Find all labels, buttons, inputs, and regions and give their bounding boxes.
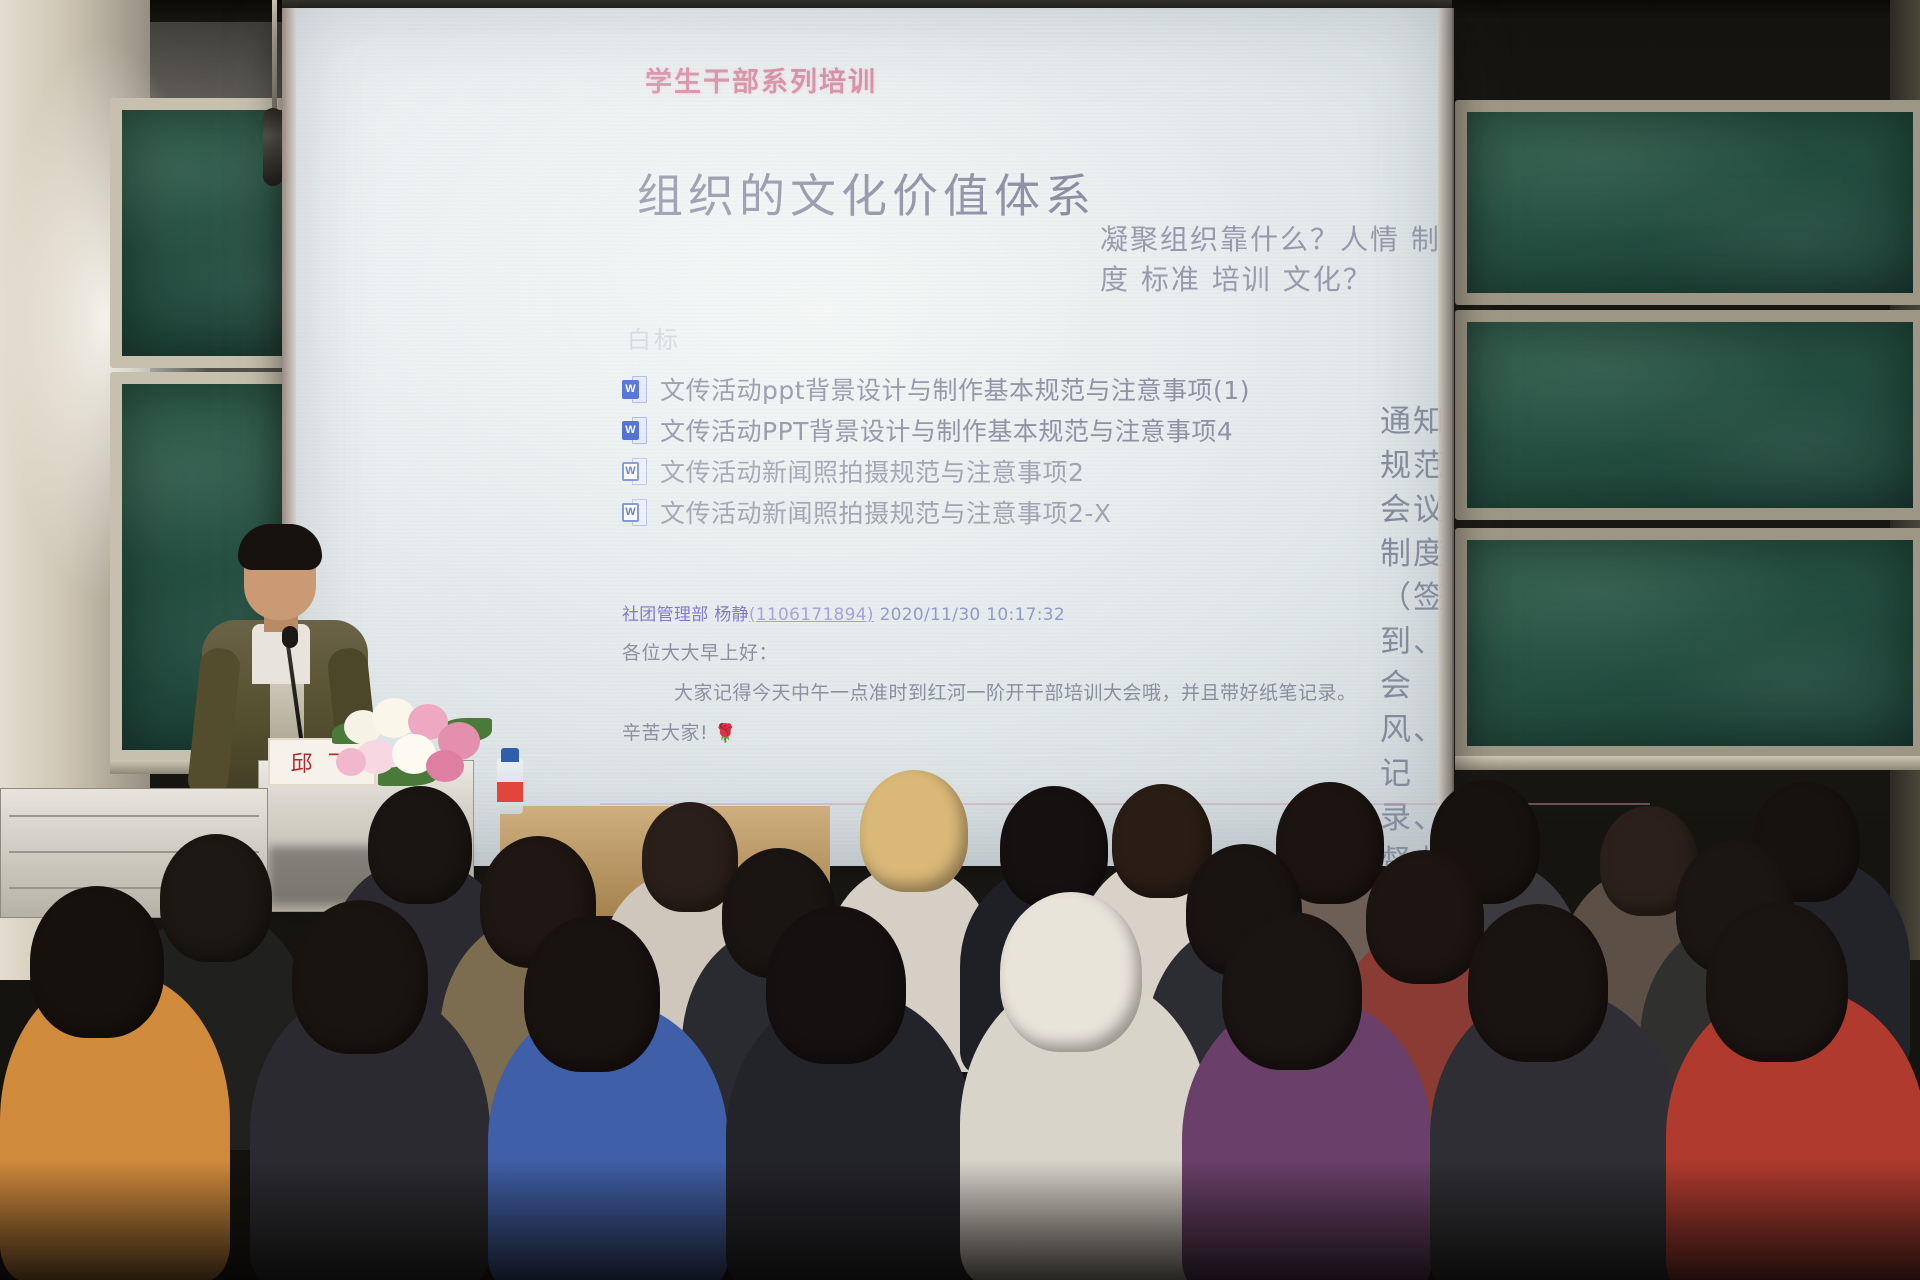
podium-microphone-head	[282, 626, 298, 648]
audience-member-head	[30, 886, 164, 1038]
file-name: 文传活动PPT背景设计与制作基本规范与注意事项4	[660, 412, 1233, 448]
audience-member-head	[860, 770, 968, 892]
chalk-residue	[1467, 540, 1913, 746]
word-doc-opened-icon: W	[622, 499, 647, 526]
chat-line: 大家记得今天中午一点准时到红河一阶开干部培训大会哦，并且带好纸笔记录。	[674, 678, 1357, 705]
file-attachment-list: W 文传活动ppt背景设计与制作基本规范与注意事项(1) W 文传活动PPT背景…	[622, 370, 1250, 534]
slide-title: 组织的文化价值体系	[637, 160, 1096, 226]
audience-member-head	[1366, 850, 1484, 984]
audience-member-head	[292, 900, 428, 1054]
list-item[interactable]: W 文传活动新闻照拍摄规范与注意事项2-X	[622, 493, 1250, 531]
list-item[interactable]: W 文传活动新闻照拍摄规范与注意事项2	[622, 452, 1250, 490]
word-doc-icon: W	[622, 417, 647, 444]
microphone-capsule	[263, 108, 283, 186]
chat-line: 各位大大早上好：	[622, 638, 1357, 665]
chat-message-block: 社团管理部 杨静(1106171894) 2020/11/30 10:17:32…	[622, 600, 1357, 745]
word-doc-icon: W	[622, 376, 647, 403]
list-item[interactable]: W 文传活动PPT背景设计与制作基本规范与注意事项4	[622, 411, 1250, 449]
audience	[0, 740, 1920, 1280]
audience-member-head	[1000, 892, 1142, 1052]
microphone-rod	[272, 0, 277, 118]
blackboard-right-lower	[1455, 528, 1920, 758]
blackboard-right-upper	[1455, 100, 1920, 305]
lecture-hall-photo: 学生干部系列培训 组织的文化价值体系 凝聚组织靠什么？人情 制度 标准 培训 文…	[0, 0, 1920, 1280]
audience-member-head	[368, 786, 472, 904]
chalk-residue	[1467, 322, 1913, 508]
presenter-hair	[238, 524, 322, 570]
audience-member-head	[1706, 902, 1848, 1062]
audience-member-head	[524, 916, 660, 1072]
file-name: 文传活动新闻照拍摄规范与注意事项2	[660, 453, 1084, 489]
audience-member-head	[1000, 786, 1108, 908]
chat-uid[interactable]: (1106171894)	[749, 605, 874, 625]
file-name: 文传活动ppt背景设计与制作基本规范与注意事项(1)	[660, 371, 1250, 407]
file-name: 文传活动新闻照拍摄规范与注意事项2-X	[660, 494, 1112, 530]
slide-watermark: 白标	[627, 320, 681, 355]
chat-header: 社团管理部 杨静(1106171894) 2020/11/30 10:17:32	[622, 600, 1357, 625]
audience-member-head	[160, 834, 272, 962]
list-item[interactable]: W 文传活动ppt背景设计与制作基本规范与注意事项(1)	[622, 370, 1250, 408]
screen-right-edge	[1438, 8, 1454, 866]
chat-sender: 社团管理部 杨静	[622, 605, 749, 625]
audience-member-head	[1222, 912, 1362, 1070]
word-doc-opened-icon: W	[622, 458, 647, 485]
audience-member-head	[1468, 904, 1608, 1062]
slide-kicker: 学生干部系列培训	[645, 60, 877, 99]
chalk-residue	[1467, 112, 1913, 293]
slide-subtitle: 凝聚组织靠什么？人情 制度 标准 培训 文化？	[1100, 218, 1452, 298]
chat-timestamp: 2020/11/30 10:17:32	[880, 605, 1065, 625]
audience-member-head	[766, 906, 906, 1064]
presenter-shirt	[252, 624, 310, 684]
blackboard-right-middle	[1455, 310, 1920, 520]
